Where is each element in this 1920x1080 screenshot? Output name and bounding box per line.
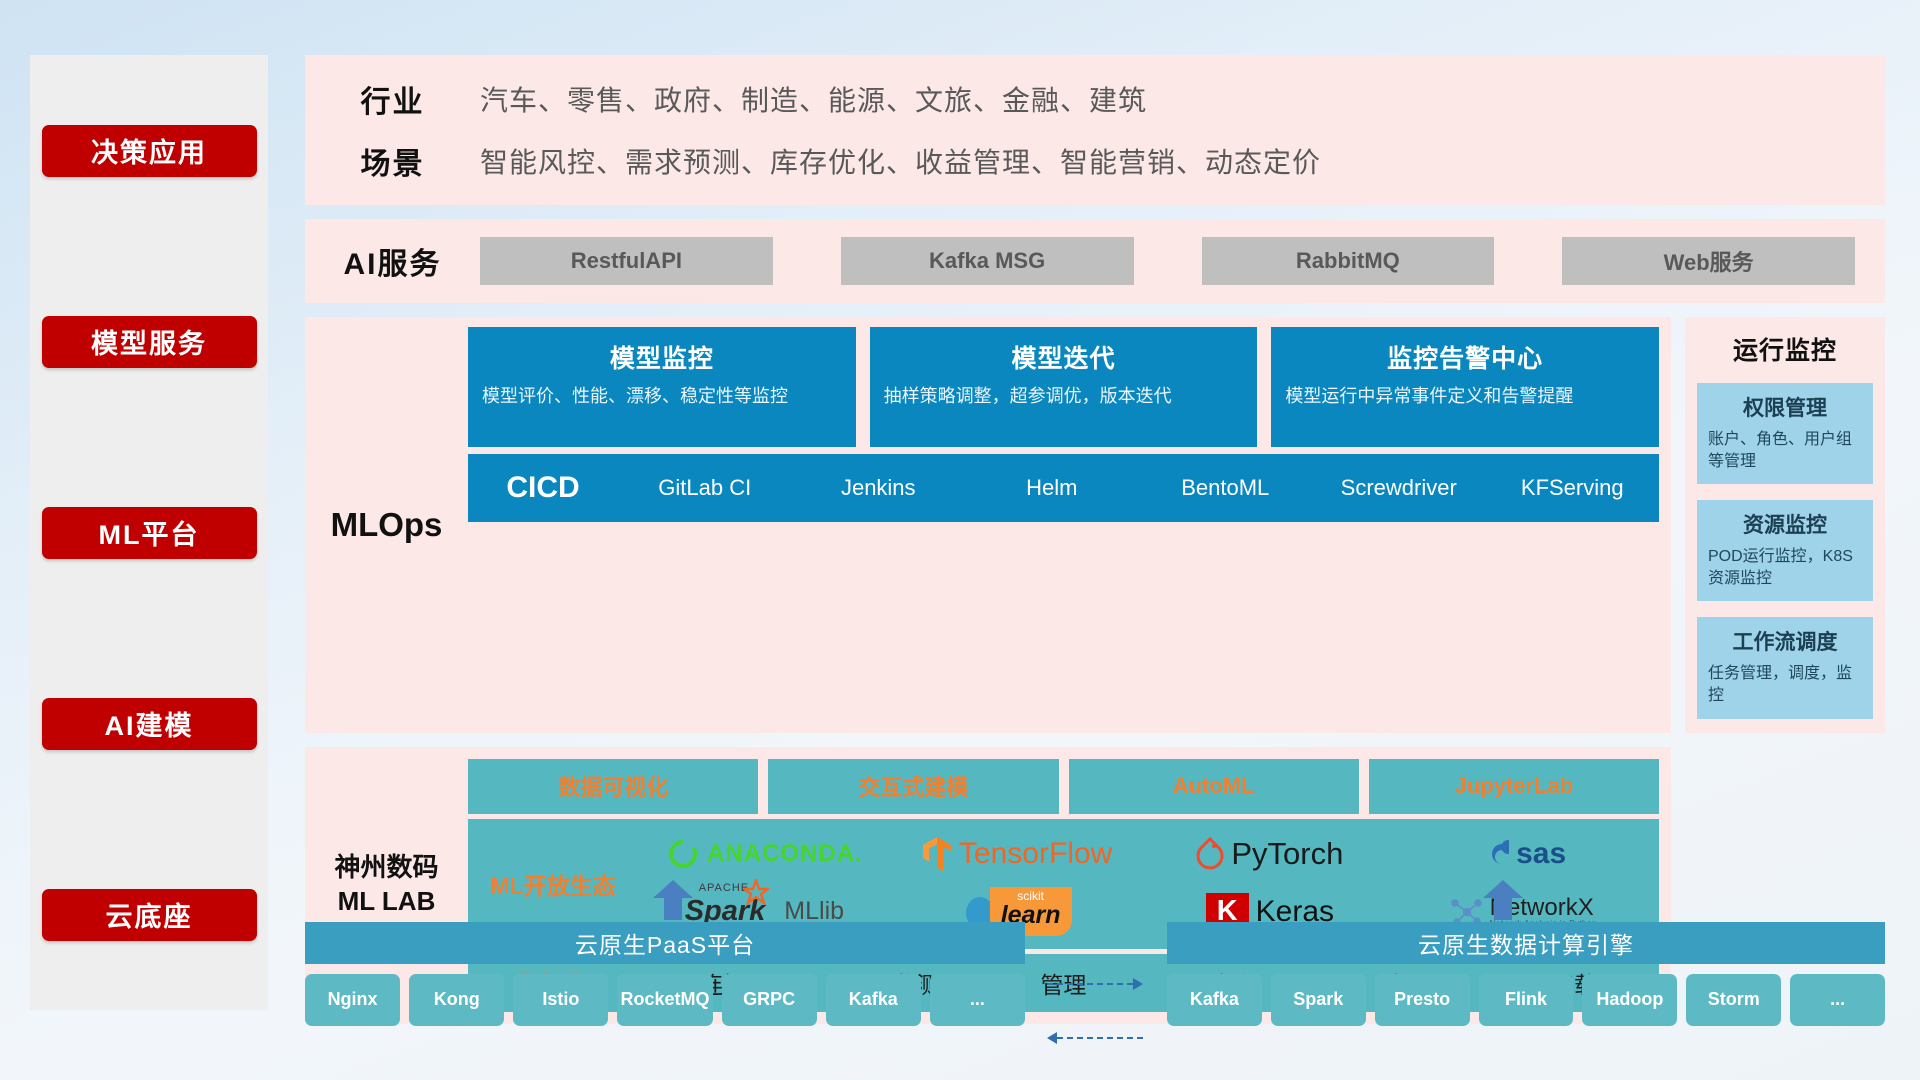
paas-items: Nginx Kong Istio RocketMQ GRPC Kafka ... <box>305 974 1025 1026</box>
industry-label: 行业 <box>305 77 480 121</box>
arrow-up-compute-icon <box>1483 880 1523 920</box>
cicd-items: GitLab CI Jenkins Helm BentoML Screwdriv… <box>618 476 1659 501</box>
card-desc: 抽样策略调整，超参调优，版本迭代 <box>884 384 1244 409</box>
mlops-band: MLOps 模型监控 模型评价、性能、漂移、稳定性等监控 模型迭代 抽样策略调整… <box>305 317 1671 733</box>
paas-chip-istio[interactable]: Istio <box>513 974 608 1026</box>
scenario-label: 场景 <box>305 139 480 183</box>
cicd-item-screwdriver[interactable]: Screwdriver <box>1312 476 1486 501</box>
rail-item-decision-app[interactable]: 决策应用 <box>42 125 257 177</box>
data-compute-engine-block: 云原生数据计算引擎 Kafka Spark Presto Flink Hadoo… <box>1167 922 1885 1026</box>
rail-item-ml-platform[interactable]: ML平台 <box>42 507 257 559</box>
card-title: 监控告警中心 <box>1285 339 1645 375</box>
monitor-card-desc: 任务管理，调度，监控 <box>1708 663 1862 706</box>
cicd-item-kfserving[interactable]: KFServing <box>1486 476 1660 501</box>
industry-row: 行业 汽车、零售、政府、制造、能源、文旅、金融、建筑 <box>305 77 1885 121</box>
arrow-up-paas-icon <box>653 880 693 920</box>
mlops-card-model-iteration[interactable]: 模型迭代 抽样策略调整，超参调优，版本迭代 <box>870 327 1258 447</box>
monitor-card-resource[interactable]: 资源监控 POD运行监控，K8S资源监控 <box>1697 500 1873 601</box>
monitor-card-title: 工作流调度 <box>1708 626 1862 656</box>
compute-items: Kafka Spark Presto Flink Hadoop Storm ..… <box>1167 974 1885 1026</box>
service-chip-kafka-msg[interactable]: Kafka MSG <box>841 237 1134 285</box>
compute-chip-flink[interactable]: Flink <box>1479 974 1574 1026</box>
anaconda-logo-text: ANACONDA. <box>707 840 863 868</box>
service-chip-rabbitmq[interactable]: RabbitMQ <box>1202 237 1495 285</box>
service-chip-restfulapi[interactable]: RestfulAPI <box>480 237 773 285</box>
tool-automl[interactable]: AutoML <box>1069 759 1359 814</box>
rail-slot: 模型服务 <box>30 246 268 437</box>
compute-engine-title: 云原生数据计算引擎 <box>1167 922 1885 964</box>
industry-values: 汽车、零售、政府、制造、能源、文旅、金融、建筑 <box>480 79 1147 119</box>
cicd-item-helm[interactable]: Helm <box>965 476 1139 501</box>
rail-item-ai-modeling[interactable]: AI建模 <box>42 698 257 750</box>
rail-slot: AI建模 <box>30 628 268 819</box>
compute-chip-storm[interactable]: Storm <box>1686 974 1781 1026</box>
compute-chip-more[interactable]: ... <box>1790 974 1885 1026</box>
monitor-card-desc: POD运行监控，K8S资源监控 <box>1708 546 1862 589</box>
paas-chip-more[interactable]: ... <box>930 974 1025 1026</box>
tensorflow-logo-text: TensorFlow <box>959 837 1112 871</box>
card-desc: 模型运行中异常事件定义和告警提醒 <box>1285 384 1645 409</box>
card-desc: 模型评价、性能、漂移、稳定性等监控 <box>482 384 842 409</box>
sas-icon <box>1479 838 1509 870</box>
mlops-content: 模型监控 模型评价、性能、漂移、稳定性等监控 模型迭代 抽样策略调整，超参调优，… <box>468 327 1659 723</box>
card-title: 模型迭代 <box>884 339 1244 375</box>
tool-jupyterlab[interactable]: JupyterLab <box>1369 759 1659 814</box>
cicd-item-gitlab-ci[interactable]: GitLab CI <box>618 476 792 501</box>
cloud-foundation-section: 云原生PaaS平台 Nginx Kong Istio RocketMQ GRPC… <box>305 880 1885 1070</box>
compute-chip-spark[interactable]: Spark <box>1271 974 1366 1026</box>
ml-lab-tools: 数据可视化 交互式建模 AutoML JupyterLab <box>468 759 1659 814</box>
paas-chip-kong[interactable]: Kong <box>409 974 504 1026</box>
ai-service-band: AI服务 RestfulAPI Kafka MSG RabbitMQ Web服务 <box>305 219 1885 303</box>
ml-lab-label-line1: 神州数码 <box>334 852 438 882</box>
compute-chip-presto[interactable]: Presto <box>1375 974 1470 1026</box>
compute-chip-kafka[interactable]: Kafka <box>1167 974 1262 1026</box>
service-chip-web-service[interactable]: Web服务 <box>1562 237 1855 285</box>
sas-logo: sas <box>1479 837 1566 871</box>
mlops-card-alert-center[interactable]: 监控告警中心 模型运行中异常事件定义和告警提醒 <box>1271 327 1659 447</box>
anaconda-logo: ANACONDA. <box>666 837 863 871</box>
arrow-left-dashed-icon <box>1047 1032 1143 1044</box>
ai-service-items: RestfulAPI Kafka MSG RabbitMQ Web服务 <box>480 237 1885 285</box>
rail-slot: 云底座 <box>30 819 268 1010</box>
cicd-bar: CICD GitLab CI Jenkins Helm BentoML Scre… <box>468 454 1659 522</box>
mlops-cards: 模型监控 模型评价、性能、漂移、稳定性等监控 模型迭代 抽样策略调整，超参调优，… <box>468 327 1659 447</box>
arrow-right-dashed-icon <box>1047 978 1143 990</box>
monitor-card-title: 资源监控 <box>1708 509 1862 539</box>
monitor-card-permission[interactable]: 权限管理 账户、角色、用户组等管理 <box>1697 383 1873 484</box>
mlops-row: MLOps 模型监控 模型评价、性能、漂移、稳定性等监控 模型迭代 抽样策略调整… <box>305 317 1885 733</box>
monitor-card-title: 权限管理 <box>1708 392 1862 422</box>
pytorch-icon <box>1196 837 1224 871</box>
anaconda-icon <box>666 837 700 871</box>
scenario-row: 场景 智能风控、需求预测、库存优化、收益管理、智能营销、动态定价 <box>305 139 1885 183</box>
paas-platform-title: 云原生PaaS平台 <box>305 922 1025 964</box>
monitor-panel-title: 运行监控 <box>1697 331 1873 367</box>
cicd-label: CICD <box>468 471 618 505</box>
tool-data-visualization[interactable]: 数据可视化 <box>468 759 758 814</box>
layer-rail: 决策应用 模型服务 ML平台 AI建模 云底座 <box>30 55 268 1010</box>
tool-interactive-modeling[interactable]: 交互式建模 <box>768 759 1058 814</box>
sas-logo-text: sas <box>1516 837 1566 871</box>
compute-chip-hadoop[interactable]: Hadoop <box>1582 974 1677 1026</box>
pytorch-logo: PyTorch <box>1196 836 1343 872</box>
scenario-values: 智能风控、需求预测、库存优化、收益管理、智能营销、动态定价 <box>480 141 1321 181</box>
rail-slot: 决策应用 <box>30 55 268 246</box>
cicd-item-bentoml[interactable]: BentoML <box>1139 476 1313 501</box>
paas-chip-grpc[interactable]: GRPC <box>722 974 817 1026</box>
mlops-card-model-monitoring[interactable]: 模型监控 模型评价、性能、漂移、稳定性等监控 <box>468 327 856 447</box>
paas-platform-block: 云原生PaaS平台 Nginx Kong Istio RocketMQ GRPC… <box>305 922 1025 1026</box>
main-column: 行业 汽车、零售、政府、制造、能源、文旅、金融、建筑 场景 智能风控、需求预测、… <box>305 55 1885 1024</box>
cicd-item-jenkins[interactable]: Jenkins <box>792 476 966 501</box>
paas-chip-kafka[interactable]: Kafka <box>826 974 921 1026</box>
mlops-label: MLOps <box>305 327 468 723</box>
paas-chip-rocketmq[interactable]: RocketMQ <box>617 974 712 1026</box>
paas-chip-nginx[interactable]: Nginx <box>305 974 400 1026</box>
architecture-diagram: 决策应用 模型服务 ML平台 AI建模 云底座 行业 汽车、零售、政府、制造、能… <box>0 0 1920 1080</box>
tensorflow-logo: TensorFlow <box>922 836 1112 872</box>
pytorch-logo-text: PyTorch <box>1231 836 1343 872</box>
rail-slot: ML平台 <box>30 437 268 628</box>
tensorflow-icon <box>922 836 952 872</box>
rail-item-model-service[interactable]: 模型服务 <box>42 316 257 368</box>
ai-service-label: AI服务 <box>305 239 480 283</box>
monitor-card-workflow[interactable]: 工作流调度 任务管理，调度，监控 <box>1697 617 1873 718</box>
decision-app-band: 行业 汽车、零售、政府、制造、能源、文旅、金融、建筑 场景 智能风控、需求预测、… <box>305 55 1885 205</box>
rail-item-cloud-base[interactable]: 云底座 <box>42 889 257 941</box>
card-title: 模型监控 <box>482 339 842 375</box>
monitor-card-desc: 账户、角色、用户组等管理 <box>1708 429 1862 472</box>
runtime-monitor-panel: 运行监控 权限管理 账户、角色、用户组等管理 资源监控 POD运行监控，K8S资… <box>1685 317 1885 733</box>
